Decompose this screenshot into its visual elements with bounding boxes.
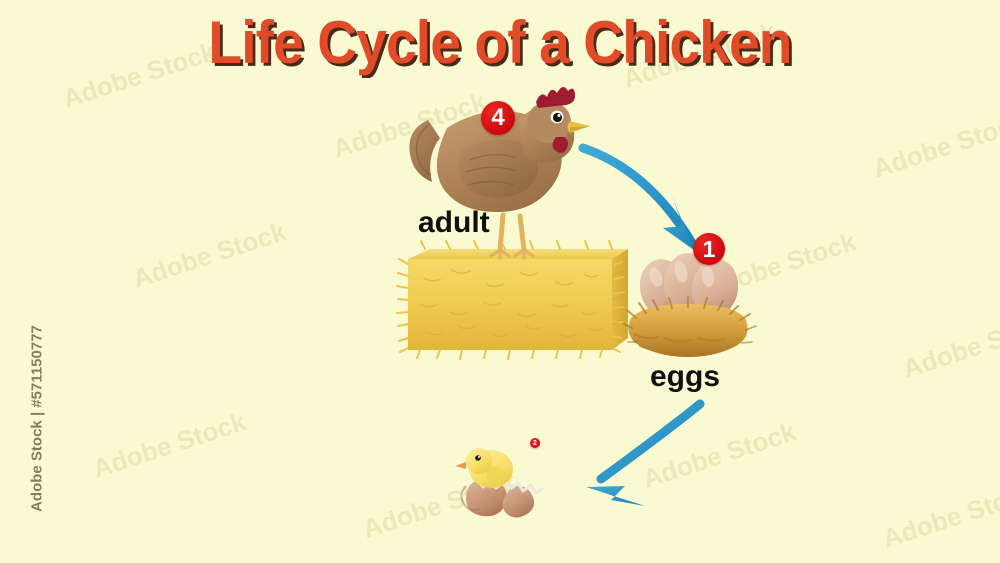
arrow-adult-to-eggs bbox=[583, 148, 694, 250]
stage-label-eggs: eggs bbox=[650, 360, 720, 394]
arrow-eggs-to-chick bbox=[586, 404, 700, 506]
hatching-chick-illustration bbox=[455, 448, 543, 518]
stage-label-adult: adult bbox=[418, 206, 490, 240]
eggs-in-nest-illustration bbox=[624, 253, 756, 357]
stage-badge-2: 2 bbox=[530, 438, 540, 448]
hay-bale-illustration bbox=[397, 241, 628, 359]
stage-badge-4: 4 bbox=[481, 101, 515, 135]
diagram-artwork bbox=[0, 0, 1000, 563]
stage-badge-1: 1 bbox=[693, 233, 725, 265]
illustration-canvas: Adobe Stock Adobe Stock Adobe Stock Adob… bbox=[0, 0, 1000, 563]
